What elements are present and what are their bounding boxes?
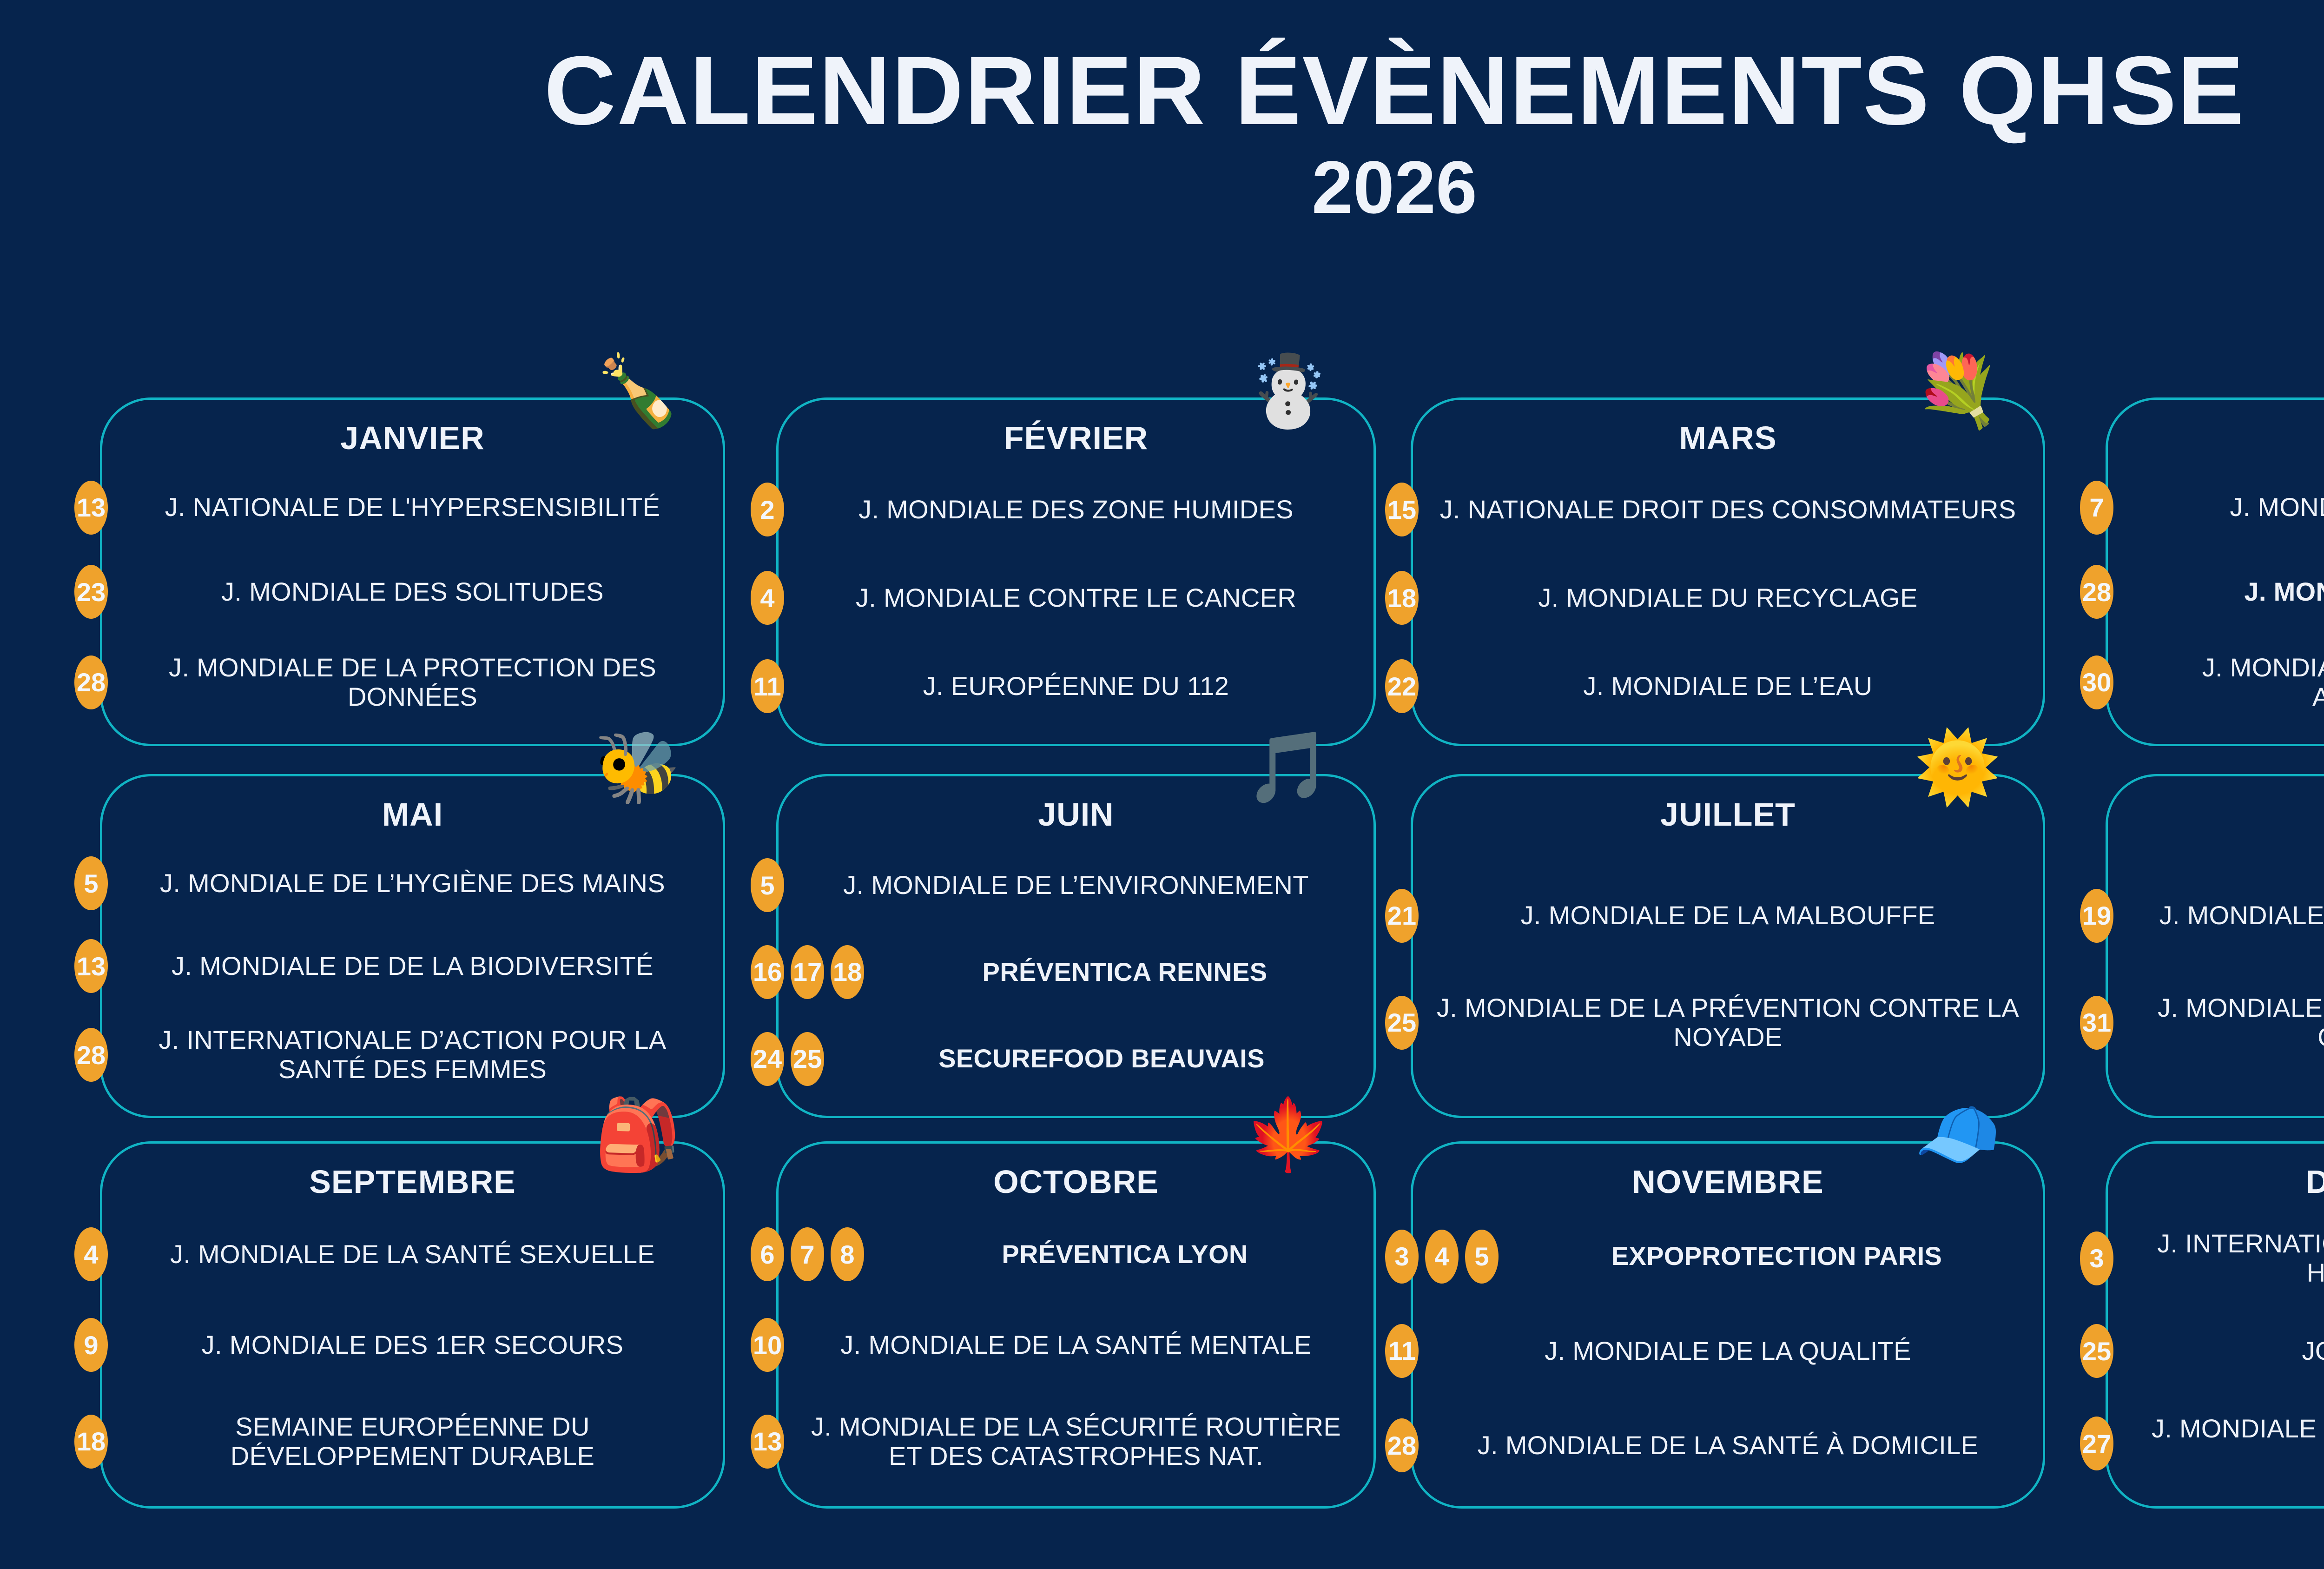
month-events: 5J. MONDIALE DE L’HYGIÈNE DES MAINS13J. … (102, 846, 723, 1106)
event-label: J. EUROPÉENNE DU 112 (779, 672, 1373, 701)
month-events: 5J. MONDIALE DE L’ENVIRONNEMENT161718PRÉ… (779, 846, 1373, 1106)
event-row[interactable]: 15J. NATIONALE DROIT DES CONSOMMATEURS (1413, 486, 2043, 533)
day-badge: 3 (1385, 1230, 1419, 1284)
day-badge: 25 (1385, 996, 1419, 1050)
day-badge: 16 (751, 945, 784, 999)
event-row[interactable]: 27J. MONDIALE DE LA PREPARATION AUX ÉPID… (2108, 1414, 2324, 1472)
event-row[interactable]: 11J. MONDIALE DE LA QUALITÉ (1413, 1328, 2043, 1374)
event-label: J. MONDIALE DE LA SST (2108, 577, 2324, 607)
day-badge: 25 (791, 1032, 824, 1086)
day-badge: 11 (751, 659, 784, 713)
event-label: J. MONDIALE DE LA SANTÉ À DOMICILE (1413, 1431, 2043, 1460)
month-card-novembre[interactable]: NOVEMBRE🧢345EXPOPROTECTION PARIS11J. MON… (1411, 1141, 2045, 1509)
event-label: J. MONDIALE DE LA PRÉVENTION CONTRE LA N… (1413, 993, 2043, 1052)
month-title: DÉCEMBRE (2108, 1163, 2324, 1200)
day-badge: 18 (74, 1415, 108, 1469)
event-label: J. MONDIALE DES 1ER SECOURS (102, 1331, 723, 1360)
event-day-badges: 5 (74, 856, 108, 910)
event-label: JOYEUX NOËL ! (2108, 1337, 2324, 1366)
event-label: J. MONDIALE DE L’HYGIÈNE DES MAINS (102, 869, 723, 898)
event-label: J. MONDIALE DE LA SANTÉ SEXUELLE (102, 1240, 723, 1269)
event-label: PRÉVENTICA LYON (779, 1240, 1373, 1269)
day-badge: 13 (751, 1415, 784, 1469)
month-title: AOÛT (2108, 796, 2324, 833)
event-label: J. MONDIALE DE LA PRÉVENTION DES OVERDOS… (2108, 993, 2324, 1052)
event-label: J. MONDIALE DES SOLITUDES (102, 577, 723, 607)
day-badge: 4 (751, 571, 784, 625)
event-row[interactable]: 9J. MONDIALE DES 1ER SECOURS (102, 1322, 723, 1368)
event-day-badges: 4 (74, 1227, 108, 1281)
event-row[interactable]: 28J. INTERNATIONALE D’ACTION POUR LA SAN… (102, 1026, 723, 1084)
event-row[interactable]: 161718PRÉVENTICA RENNES (779, 949, 1373, 995)
month-events: 21J. MONDIALE DE LA MALBOUFFE25J. MONDIA… (1413, 846, 2043, 1106)
event-day-badges: 22 (1385, 659, 1419, 713)
day-badge: 31 (2080, 996, 2113, 1050)
month-card-avril[interactable]: AVRIL🐠7J. MONDIALE DE LA SANTÉ28J. MONDI… (2106, 397, 2324, 746)
event-label: J. MONDIALE DE LA QUALITÉ (1413, 1337, 2043, 1366)
month-title: MARS (1413, 419, 2043, 457)
event-row[interactable]: 5J. MONDIALE DE L’ENVIRONNEMENT (779, 862, 1373, 908)
day-badge: 22 (1385, 659, 1419, 713)
event-day-badges: 345 (1385, 1230, 1499, 1284)
event-row[interactable]: 25J. MONDIALE DE LA PRÉVENTION CONTRE LA… (1413, 993, 2043, 1052)
event-day-badges: 25 (2080, 1324, 2113, 1378)
event-day-badges: 7 (2080, 481, 2113, 535)
event-day-badges: 9 (74, 1318, 108, 1372)
event-row[interactable]: 30J. MONDIALE DES MOBILITÉ ET ACESSIBILI… (2108, 653, 2324, 711)
event-label: SEMAINE EUROPÉENNE DU DÉVELOPPEMENT DURA… (102, 1412, 723, 1470)
page-title: CALENDRIER ÉVÈNEMENTS QHSE (0, 0, 2324, 137)
event-row[interactable]: 13J. MONDIALE DE LA SÉCURITÉ ROUTIÈRE ET… (779, 1412, 1373, 1470)
page-header: CALENDRIER ÉVÈNEMENTS QHSE 2026 (0, 0, 2324, 367)
month-card-mars[interactable]: MARS💐15J. NATIONALE DROIT DES CONSOMMATE… (1411, 397, 2045, 746)
day-badge: 3 (2080, 1231, 2113, 1285)
month-card-janvier[interactable]: JANVIER🍾13J. NATIONALE DE L'HYPERSENSIBI… (100, 397, 725, 746)
event-label: PRÉVENTICA RENNES (779, 958, 1373, 987)
month-title: JUILLET (1413, 796, 2043, 833)
day-badge: 24 (751, 1032, 784, 1086)
day-badge: 2 (751, 483, 784, 536)
day-badge: 28 (2080, 565, 2113, 619)
event-label: EXPOPROTECTION PARIS (1413, 1242, 2043, 1271)
event-row[interactable]: 4J. MONDIALE CONTRE LE CANCER (779, 575, 1373, 621)
month-title: AVRIL (2108, 419, 2324, 457)
page-year: 2026 (0, 137, 2324, 225)
event-day-badges: 11 (1385, 1324, 1419, 1378)
day-badge: 11 (1385, 1324, 1419, 1378)
event-label: J. MONDIALE DES ZONE HUMIDES (779, 495, 1373, 524)
month-card-octobre[interactable]: OCTOBRE🍁678PRÉVENTICA LYON10J. MONDIALE … (776, 1141, 1376, 1509)
event-row[interactable]: 25JOYEUX NOËL ! (2108, 1328, 2324, 1374)
day-badge: 8 (831, 1227, 864, 1281)
event-row[interactable]: 5J. MONDIALE DE L’HYGIÈNE DES MAINS (102, 860, 723, 907)
day-badge: 23 (74, 565, 108, 619)
event-day-badges: 161718 (751, 945, 864, 999)
event-label: J. MONDIALE DE LA PREPARATION AUX ÉPIDÉM… (2108, 1414, 2324, 1472)
month-title: MAI (102, 796, 723, 833)
event-day-badges: 30 (2080, 655, 2113, 709)
month-title: JANVIER (102, 419, 723, 457)
event-label: J. NATIONALE DE L'HYPERSENSIBILITÉ (102, 493, 723, 522)
event-row[interactable]: 31J. MONDIALE DE LA PRÉVENTION DES OVERD… (2108, 993, 2324, 1052)
month-card-mai[interactable]: MAI🐝5J. MONDIALE DE L’HYGIÈNE DES MAINS1… (100, 774, 725, 1118)
day-badge: 10 (751, 1318, 784, 1372)
event-row[interactable]: 22J. MONDIALE DE L’EAU (1413, 663, 2043, 709)
event-day-badges: 15 (1385, 483, 1419, 536)
event-row[interactable]: 18SEMAINE EUROPÉENNE DU DÉVELOPPEMENT DU… (102, 1412, 723, 1470)
day-badge: 25 (2080, 1324, 2113, 1378)
event-row[interactable]: 19J. MONDIALE DE L’AIDE HUMANITAIRE (2108, 893, 2324, 939)
month-card-juillet[interactable]: JUILLET🌞21J. MONDIALE DE LA MALBOUFFE25J… (1411, 774, 2045, 1118)
day-badge: 15 (1385, 483, 1419, 536)
day-badge: 30 (2080, 655, 2113, 709)
event-day-badges: 23 (74, 565, 108, 619)
event-label: SECUREFOOD BEAUVAIS (779, 1044, 1373, 1073)
calendar-grid: JANVIER🍾13J. NATIONALE DE L'HYPERSENSIBI… (0, 370, 2324, 1569)
event-row[interactable]: 2J. MONDIALE DES ZONE HUMIDES (779, 486, 1373, 533)
month-events: 15J. NATIONALE DROIT DES CONSOMMATEURS18… (1413, 470, 2043, 735)
day-badge: 4 (1425, 1230, 1459, 1284)
event-day-badges: 21 (1385, 889, 1419, 943)
day-badge: 21 (1385, 889, 1419, 943)
event-row[interactable]: 21J. MONDIALE DE LA MALBOUFFE (1413, 893, 2043, 939)
day-badge: 9 (74, 1318, 108, 1372)
day-badge: 4 (74, 1227, 108, 1281)
month-title: OCTOBRE (779, 1163, 1373, 1200)
day-badge: 27 (2080, 1417, 2113, 1470)
day-badge: 28 (1385, 1418, 1419, 1472)
event-row[interactable]: 18J. MONDIALE DU RECYCLAGE (1413, 575, 2043, 621)
event-label: J. MONDIALE DE L’AIDE HUMANITAIRE (2108, 901, 2324, 930)
event-row[interactable]: 10J. MONDIALE DE LA SANTÉ MENTALE (779, 1322, 1373, 1368)
event-day-badges: 4 (751, 571, 784, 625)
event-day-badges: 3 (2080, 1231, 2113, 1285)
month-title: FÉVRIER (779, 419, 1373, 457)
month-card-juin[interactable]: JUIN🎵5J. MONDIALE DE L’ENVIRONNEMENT1617… (776, 774, 1376, 1118)
event-day-badges: 2425 (751, 1032, 824, 1086)
day-badge: 7 (791, 1227, 824, 1281)
day-badge: 28 (74, 655, 108, 709)
day-badge: 13 (74, 481, 108, 535)
event-day-badges: 11 (751, 659, 784, 713)
event-label: J. INTERNATIONALE D’ACTION POUR LA SANTÉ… (102, 1026, 723, 1084)
event-day-badges: 27 (2080, 1417, 2113, 1470)
month-events: 345EXPOPROTECTION PARIS11J. MONDIALE DE … (1413, 1213, 2043, 1497)
day-badge: 17 (791, 945, 824, 999)
event-day-badges: 10 (751, 1318, 784, 1372)
month-events: 13J. NATIONALE DE L'HYPERSENSIBILITÉ23J.… (102, 470, 723, 735)
month-events: 678PRÉVENTICA LYON10J. MONDIALE DE LA SA… (779, 1213, 1373, 1497)
event-label: J. MONDIALE CONTRE LE CANCER (779, 583, 1373, 613)
event-day-badges: 5 (751, 858, 784, 912)
event-row[interactable]: 28J. MONDIALE DE LA SANTÉ À DOMICILE (1413, 1422, 2043, 1469)
month-events: 3J. INTERNATIONALE DES PERSONNES HANDICA… (2108, 1213, 2324, 1497)
event-row[interactable]: 4J. MONDIALE DE LA SANTÉ SEXUELLE (102, 1231, 723, 1278)
event-row[interactable]: 28J. MONDIALE DE LA SST (2108, 569, 2324, 615)
event-label: J. MONDIALE DE LA SANTÉ (2108, 493, 2324, 522)
event-day-badges: 28 (1385, 1418, 1419, 1472)
event-row[interactable]: 13J. NATIONALE DE L'HYPERSENSIBILITÉ (102, 484, 723, 531)
event-label: J. MONDIALE DE DE LA BIODIVERSITÉ (102, 952, 723, 981)
event-day-badges: 18 (74, 1415, 108, 1469)
day-badge: 18 (1385, 571, 1419, 625)
event-day-badges: 13 (751, 1415, 784, 1469)
month-title: JUIN (779, 796, 1373, 833)
event-day-badges: 28 (2080, 565, 2113, 619)
event-day-badges: 13 (74, 939, 108, 993)
event-day-badges: 28 (74, 655, 108, 709)
event-row[interactable]: 7J. MONDIALE DE LA SANTÉ (2108, 484, 2324, 531)
event-row[interactable]: 2425SECUREFOOD BEAUVAIS (779, 1036, 1373, 1082)
event-day-badges: 25 (1385, 996, 1419, 1050)
event-row[interactable]: 23J. MONDIALE DES SOLITUDES (102, 569, 723, 615)
event-label: J. MONDIALE DES MOBILITÉ ET ACESSIBILITÉ (2108, 653, 2324, 711)
month-card-février[interactable]: FÉVRIER☃️2J. MONDIALE DES ZONE HUMIDES4J… (776, 397, 1376, 746)
event-day-badges: 19 (2080, 889, 2113, 943)
month-card-septembre[interactable]: SEPTEMBRE🎒4J. MONDIALE DE LA SANTÉ SEXUE… (100, 1141, 725, 1509)
day-badge: 19 (2080, 889, 2113, 943)
day-badge: 6 (751, 1227, 784, 1281)
event-day-badges: 28 (74, 1028, 108, 1082)
event-label: J. MONDIALE DE L’ENVIRONNEMENT (779, 871, 1373, 900)
event-row[interactable]: 13J. MONDIALE DE DE LA BIODIVERSITÉ (102, 943, 723, 989)
day-badge: 7 (2080, 481, 2113, 535)
month-card-décembre[interactable]: DÉCEMBRE🎅3J. INTERNATIONALE DES PERSONNE… (2106, 1141, 2324, 1509)
event-label: J. MONDIALE DE LA MALBOUFFE (1413, 901, 2043, 930)
event-label: J. MONDIALE DE LA PROTECTION DES DONNÉES (102, 653, 723, 711)
month-events: 19J. MONDIALE DE L’AIDE HUMANITAIRE31J. … (2108, 846, 2324, 1106)
month-title: NOVEMBRE (1413, 1163, 2043, 1200)
event-day-badges: 678 (751, 1227, 864, 1281)
day-badge: 5 (74, 856, 108, 910)
event-day-badges: 31 (2080, 996, 2113, 1050)
event-row[interactable]: 11J. EUROPÉENNE DU 112 (779, 663, 1373, 709)
month-events: 7J. MONDIALE DE LA SANTÉ28J. MONDIALE DE… (2108, 470, 2324, 735)
month-events: 2J. MONDIALE DES ZONE HUMIDES4J. MONDIAL… (779, 470, 1373, 735)
event-label: J. MONDIALE DE L’EAU (1413, 672, 2043, 701)
day-badge: 5 (751, 858, 784, 912)
event-row[interactable]: 345EXPOPROTECTION PARIS (1413, 1233, 2043, 1280)
event-label: J. MONDIALE DE LA SANTÉ MENTALE (779, 1331, 1373, 1360)
event-label: J. MONDIALE DU RECYCLAGE (1413, 583, 2043, 613)
day-badge: 28 (74, 1028, 108, 1082)
event-day-badges: 18 (1385, 571, 1419, 625)
event-day-badges: 13 (74, 481, 108, 535)
event-row[interactable]: 3J. INTERNATIONALE DES PERSONNES HANDICA… (2108, 1229, 2324, 1287)
event-label: J. INTERNATIONALE DES PERSONNES HANDICAP… (2108, 1229, 2324, 1287)
day-badge: 18 (831, 945, 864, 999)
month-card-août[interactable]: AOÛT🏝️19J. MONDIALE DE L’AIDE HUMANITAIR… (2106, 774, 2324, 1118)
event-row[interactable]: 28J. MONDIALE DE LA PROTECTION DES DONNÉ… (102, 653, 723, 711)
event-label: J. NATIONALE DROIT DES CONSOMMATEURS (1413, 495, 2043, 524)
day-badge: 5 (1465, 1230, 1499, 1284)
event-row[interactable]: 678PRÉVENTICA LYON (779, 1231, 1373, 1278)
event-label: J. MONDIALE DE LA SÉCURITÉ ROUTIÈRE ET D… (779, 1412, 1373, 1470)
day-badge: 13 (74, 939, 108, 993)
month-events: 4J. MONDIALE DE LA SANTÉ SEXUELLE9J. MON… (102, 1213, 723, 1497)
event-day-badges: 2 (751, 483, 784, 536)
month-title: SEPTEMBRE (102, 1163, 723, 1200)
